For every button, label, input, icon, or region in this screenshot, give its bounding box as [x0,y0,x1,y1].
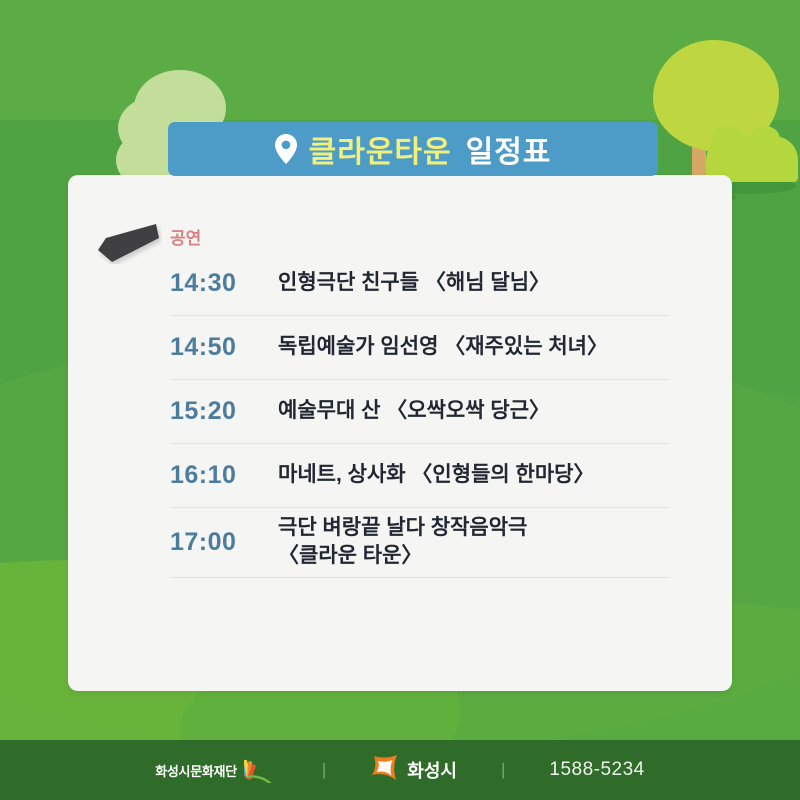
page-subtitle: 일정표 [466,136,552,169]
poster-canvas: 클라운타운일정표 공연 14:30 인형극단 친구들 〈해님 달님〉 14:50… [0,0,800,800]
row-title: 예술무대 산 〈오싹오싹 당근〉 [278,397,550,425]
row-time: 14:50 [170,333,278,362]
location-pin-icon [275,134,297,164]
foundation-name: 화성시문화재단 [155,761,237,780]
row-time: 17:00 [170,528,278,557]
ribbon-flag-icon [96,222,162,264]
row-time: 16:10 [170,461,278,490]
row-title: 인형극단 친구들 〈해님 달님〉 [278,269,550,297]
row-title: 마네트, 상사화 〈인형들의 한마당〉 [278,461,595,489]
fan-burst-logo-icon [244,753,278,788]
city-name: 화성시 [407,757,457,783]
table-row[interactable]: 15:20 예술무대 산 〈오싹오싹 당근〉 [170,380,670,444]
banner-title-group: 클라운타운일정표 [309,127,552,171]
footer-separator-2: | [501,760,505,780]
footer-separator-1: | [322,760,326,780]
table-row[interactable]: 17:00 극단 벼랑끝 날다 창작음악극 〈클라운 타운〉 [170,508,670,578]
schedule-list: 14:30 인형극단 친구들 〈해님 달님〉 14:50 독립예술가 임선영 〈… [170,252,670,578]
row-time: 14:30 [170,269,278,298]
section-label-performance: 공연 [170,224,201,249]
table-row[interactable]: 14:30 인형극단 친구들 〈해님 달님〉 [170,252,670,316]
foundation-logo: 화성시문화재단 [155,753,278,788]
table-row[interactable]: 14:50 독립예술가 임선영 〈재주있는 처녀〉 [170,316,670,380]
page-title: 클라운타운 [309,136,452,169]
city-logo: 화성시 [370,753,457,788]
row-time: 15:20 [170,397,278,426]
table-row[interactable]: 16:10 마네트, 상사화 〈인형들의 한마당〉 [170,444,670,508]
contact-phone: 1588-5234 [549,759,644,781]
orange-star-logo-icon [370,753,400,788]
footer-bar: 화성시문화재단 | [0,740,800,800]
row-title: 극단 벼랑끝 날다 창작음악극 〈클라운 타운〉 [278,514,527,571]
header-banner: 클라운타운일정표 [168,122,658,176]
row-title: 독립예술가 임선영 〈재주있는 처녀〉 [278,333,608,361]
